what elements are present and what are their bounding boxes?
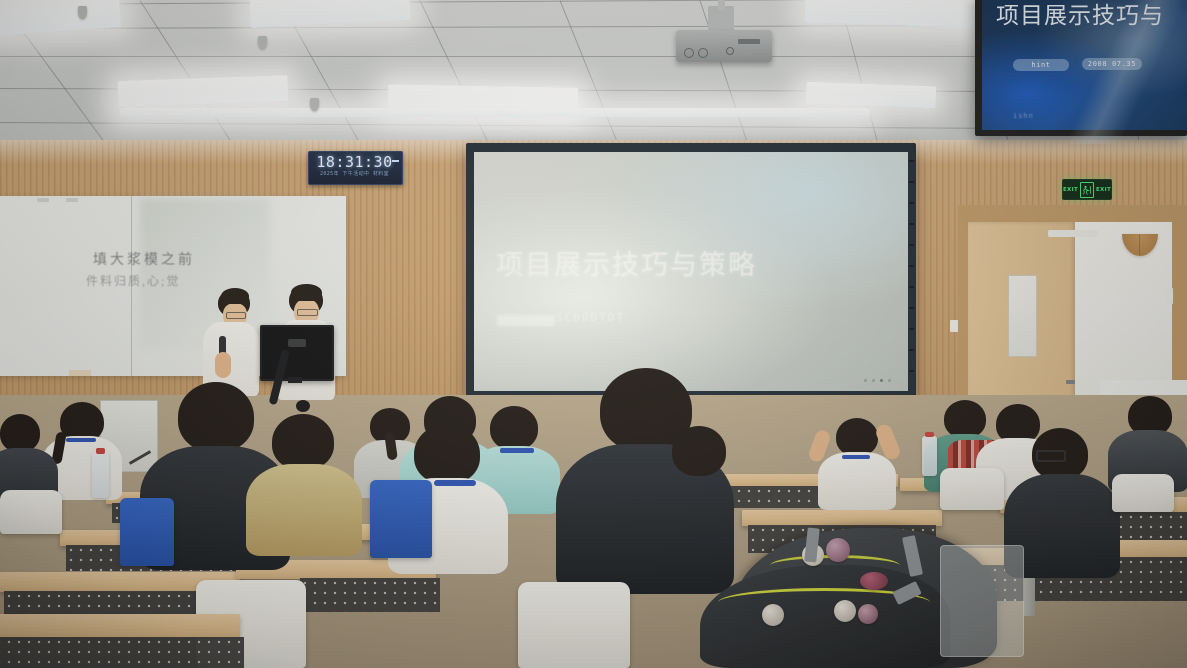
screen-frame-tick bbox=[909, 307, 914, 309]
led-clock-subtext: 2025年 下午活动中 材料室 bbox=[310, 170, 399, 177]
slide-indicator-dot[interactable] bbox=[872, 379, 875, 382]
door-glass-panel bbox=[1008, 275, 1037, 357]
student-head bbox=[836, 418, 878, 456]
chair-blue[interactable] bbox=[120, 498, 174, 566]
slide-subtitle-block bbox=[497, 315, 555, 326]
student-head-front bbox=[178, 382, 254, 452]
clear-bag[interactable] bbox=[940, 545, 1024, 657]
desk-modesty-panel bbox=[300, 578, 440, 612]
slide-title: 项目展示技巧与策略 bbox=[496, 243, 757, 282]
door-closer-arm bbox=[1048, 230, 1098, 237]
exit-sign-label-left: EXIT bbox=[1063, 187, 1078, 193]
whiteboard-text-line2: 件料归质,心;觉 bbox=[86, 272, 180, 289]
presenter-monitor[interactable] bbox=[260, 325, 334, 381]
student-head bbox=[272, 414, 334, 470]
chair-blue[interactable] bbox=[370, 480, 432, 558]
backpack-badge bbox=[826, 538, 850, 562]
sprinkler-head bbox=[310, 98, 319, 111]
student-lanyard bbox=[434, 480, 476, 486]
door-handle[interactable] bbox=[1066, 380, 1075, 384]
led-clock-time: 18:31:30 bbox=[312, 153, 397, 171]
slide-subtitle-code: SCDODTOT bbox=[556, 311, 625, 324]
student-lanyard bbox=[842, 455, 870, 459]
bottle-cap bbox=[925, 432, 934, 437]
slide-indicator-dot[interactable] bbox=[864, 379, 867, 382]
water-bottle[interactable] bbox=[92, 452, 109, 498]
backpack-badge bbox=[858, 604, 878, 624]
sprinkler-head bbox=[78, 6, 87, 19]
whiteboard-clip bbox=[66, 198, 78, 202]
presenter-right-fringe bbox=[291, 284, 322, 301]
wall-plate bbox=[950, 320, 958, 332]
slide-indicator-dot-active[interactable] bbox=[880, 379, 883, 382]
student-head bbox=[944, 400, 986, 438]
student-head bbox=[672, 426, 726, 476]
screen-frame-tick bbox=[909, 202, 914, 204]
whiteboard-tray bbox=[69, 370, 91, 376]
presenter-left-fringe bbox=[221, 288, 249, 304]
tv-footer-text: ishn bbox=[1013, 112, 1034, 120]
student-glasses bbox=[1036, 450, 1066, 462]
sprinkler-head bbox=[258, 36, 267, 49]
student-body bbox=[818, 452, 896, 510]
tv-title: 项目展示技巧与 bbox=[996, 0, 1164, 30]
led-clock-dash bbox=[392, 160, 399, 162]
screen-frame-tick bbox=[909, 286, 914, 288]
desk-row3-right bbox=[742, 510, 942, 526]
chair-white[interactable] bbox=[940, 468, 1004, 510]
monitor-stand bbox=[288, 377, 302, 383]
desk-foreground-left bbox=[0, 614, 240, 638]
screen-frame-tick bbox=[909, 328, 914, 330]
presenter-left-arm bbox=[215, 352, 231, 378]
classroom-photo: 填大浆模之前 件料归质,心;觉 18:31:30 2025年 下午活动中 材料室… bbox=[0, 0, 1187, 668]
chair-white[interactable] bbox=[518, 582, 630, 668]
screen-frame-tick bbox=[909, 349, 914, 351]
desk-modesty-panel bbox=[0, 637, 244, 668]
backpack-badge bbox=[834, 600, 856, 622]
student-lanyard bbox=[500, 448, 534, 453]
screen-frame-tick bbox=[909, 160, 914, 162]
emergency-exit-sign: EXIT EXIT bbox=[1062, 179, 1112, 200]
screen-frame-tick bbox=[909, 181, 914, 183]
chair-white[interactable] bbox=[0, 490, 62, 534]
presenter-left-glasses bbox=[226, 312, 246, 319]
fan-decoration-seam bbox=[1139, 234, 1140, 255]
bottle-cap bbox=[96, 448, 105, 454]
wall-plate-door bbox=[1167, 288, 1173, 304]
ceiling-strip-light bbox=[120, 108, 870, 117]
backpack-badge bbox=[860, 572, 888, 590]
tv-pill-left[interactable]: hint bbox=[1013, 59, 1069, 71]
boom-microphone-head[interactable] bbox=[296, 400, 310, 412]
screen-frame-tick bbox=[909, 244, 914, 246]
ceiling-light-panel bbox=[806, 82, 937, 109]
projector-pole bbox=[718, 0, 725, 10]
student-head bbox=[414, 424, 480, 484]
whiteboard-clip bbox=[37, 198, 49, 202]
chair-white[interactable] bbox=[1112, 474, 1174, 512]
slide-indicator-dot[interactable] bbox=[888, 379, 891, 382]
student-lanyard bbox=[66, 438, 96, 442]
student-head bbox=[490, 406, 538, 450]
backpack-badge bbox=[762, 604, 784, 626]
screen-frame-tick bbox=[909, 265, 914, 267]
screen-frame-tick bbox=[909, 223, 914, 225]
ceiling-projector bbox=[676, 30, 772, 62]
running-man-icon bbox=[1080, 182, 1094, 198]
water-bottle[interactable] bbox=[922, 436, 937, 476]
student-head bbox=[0, 414, 40, 452]
tv-pill-right[interactable]: 2008 07.35 bbox=[1082, 58, 1142, 70]
whiteboard-text-line1: 填大浆模之前 bbox=[93, 249, 195, 269]
screen-frame-tick bbox=[909, 370, 914, 372]
presenter-right-glasses bbox=[297, 309, 318, 316]
exit-sign-label-right: EXIT bbox=[1096, 187, 1111, 193]
student-body bbox=[246, 464, 362, 556]
